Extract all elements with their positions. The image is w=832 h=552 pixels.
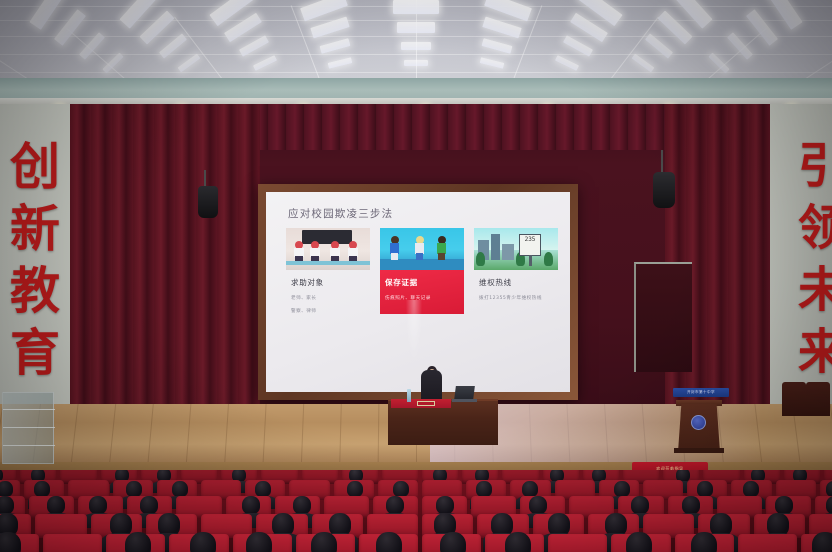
audience-area	[0, 470, 832, 552]
right-slogan-char: 来	[798, 328, 832, 376]
audience-head	[682, 496, 700, 514]
laptop-base	[452, 399, 477, 402]
podium-sign: 开封市第十中学	[673, 388, 729, 397]
floor-plank	[70, 404, 78, 466]
audience-head	[126, 481, 142, 497]
curtain-left	[70, 104, 260, 406]
card-subline: 老师、家长	[291, 295, 365, 301]
audience-head	[89, 496, 107, 514]
audience-head	[386, 496, 404, 514]
water-bottle-icon	[407, 389, 411, 402]
right-slogan-char: 未	[798, 266, 832, 314]
audience-head	[529, 496, 547, 514]
right-slogan-char: 引	[798, 142, 832, 190]
billboard-number: 235	[520, 235, 540, 244]
billboard-sign: 235	[519, 234, 541, 256]
card-thumbnail	[286, 228, 370, 270]
card-heading: 维权热线	[479, 277, 553, 288]
card-subline: 警察、律师	[291, 308, 365, 314]
floor-plank	[262, 404, 266, 466]
audience-head	[190, 532, 216, 552]
slide-card: 235 维权热线 拨打12355青少年维权热线	[474, 228, 558, 314]
audience-head	[775, 496, 793, 514]
floor-plank	[378, 404, 380, 466]
card-subline: 拨打12355青少年维权热线	[479, 295, 553, 301]
floor-plank	[301, 404, 304, 466]
floor-plank	[109, 404, 116, 466]
stage-right-door	[634, 262, 692, 372]
audience-head	[34, 481, 50, 497]
audience-head	[491, 513, 513, 536]
audience-head	[272, 513, 294, 536]
audience-head	[436, 496, 454, 514]
floor-plank	[186, 404, 192, 466]
audience-head	[172, 481, 188, 497]
audience-head	[140, 496, 158, 514]
audience-head	[376, 532, 402, 552]
laptop-icon	[454, 386, 475, 400]
left-slogan-char: 新	[10, 204, 60, 254]
audience-head	[505, 532, 531, 552]
slide-cards: 求助对象 老师、家长 警察、律师	[286, 228, 558, 314]
cartoon-schoolgirls-illustration	[286, 228, 370, 270]
floor-plank	[224, 404, 229, 466]
audience-head	[767, 513, 789, 536]
speaker-left-icon	[198, 186, 218, 218]
presenter-body	[421, 370, 442, 402]
speaker-right-icon	[653, 172, 675, 208]
audience-head	[826, 481, 832, 497]
card-heading: 保存证据	[385, 277, 459, 288]
audience-head	[110, 513, 132, 536]
nameplate	[417, 401, 435, 406]
card-thumbnail: 235	[474, 228, 558, 270]
audience-head	[697, 481, 713, 497]
card-body: 维权热线 拨打12355青少年维权热线	[474, 270, 558, 301]
slide-card: 求助对象 老师、家长 警察、律师	[286, 228, 370, 314]
audience-head	[522, 481, 538, 497]
auditorium-scene: 创新教育 引领未来 应对校园欺凌三步法	[0, 0, 832, 552]
audience-head	[691, 532, 717, 552]
audience-head	[255, 481, 271, 497]
audience-head	[626, 532, 652, 552]
card-heading: 求助对象	[291, 277, 365, 288]
city-street-billboard-illustration: 235	[474, 228, 558, 270]
audience-head	[125, 532, 151, 552]
audience-seat	[548, 534, 607, 552]
audience-head	[614, 481, 630, 497]
speaker-left-cable	[204, 170, 206, 186]
audience-head	[0, 481, 13, 497]
audience-head	[242, 496, 260, 514]
audience-seat	[43, 534, 102, 552]
audience-head	[631, 496, 649, 514]
audience-seat	[738, 534, 797, 552]
projection-screen-frame: 应对校园欺凌三步法 求助对象	[258, 184, 578, 400]
audience-head	[476, 481, 492, 497]
audience-head	[605, 513, 627, 536]
ceiling-soffit	[0, 78, 832, 100]
podium-base	[674, 448, 724, 453]
stage-chair	[782, 382, 806, 416]
card-body: 求助对象 老师、家长 警察、律师	[286, 270, 370, 314]
equipment-rack	[2, 392, 54, 464]
card-thumbnail	[380, 228, 464, 270]
audience-head	[440, 532, 466, 552]
audience-head	[311, 532, 337, 552]
audience-head	[246, 532, 272, 552]
audience-head	[548, 513, 570, 536]
floor-plank	[339, 404, 342, 466]
left-slogan-char: 育	[10, 328, 60, 378]
stage-chair	[806, 382, 830, 416]
school-crest-icon	[691, 415, 706, 430]
card-subline: 伤痕照片、聊天记录	[385, 295, 459, 301]
left-slogan-char: 教	[10, 266, 60, 316]
slide-title: 应对校园欺凌三步法	[288, 206, 393, 221]
slide-card-highlighted: 保存证据 伤痕照片、聊天记录	[380, 228, 464, 314]
audience-head	[329, 513, 351, 536]
ceiling-shading	[0, 0, 832, 82]
card-body: 保存证据 伤痕照片、聊天记录	[380, 270, 464, 301]
ceiling	[0, 0, 832, 82]
audience-head	[393, 481, 409, 497]
audience-head	[812, 532, 832, 552]
audience-head	[158, 513, 180, 536]
projection-screen: 应对校园欺凌三步法 求助对象	[266, 192, 570, 392]
audience-head	[347, 481, 363, 497]
left-slogan-char: 创	[10, 142, 60, 192]
audience-head	[743, 481, 759, 497]
cartoon-bullying-scene-illustration	[380, 228, 464, 270]
floor-plank	[147, 404, 154, 466]
audience-head	[47, 496, 65, 514]
speaker-right-cable	[661, 150, 663, 172]
audience-head	[293, 496, 311, 514]
right-slogan-char: 领	[798, 204, 832, 252]
audience-head	[710, 513, 732, 536]
